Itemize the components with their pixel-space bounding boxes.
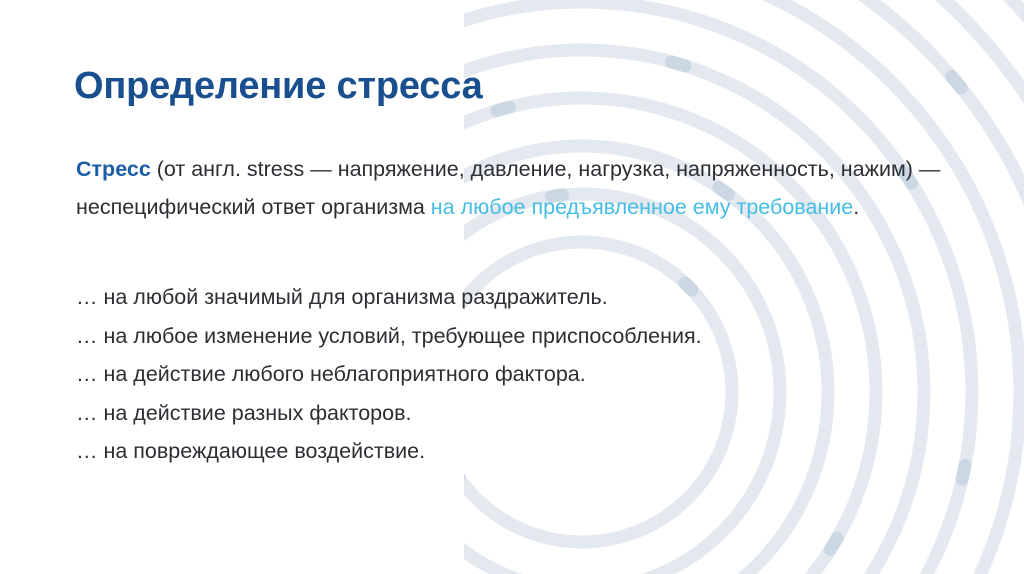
definition-paragraph: Стресс (от англ. stress — напряжение, да… xyxy=(76,150,976,226)
list-item: … на любой значимый для организма раздра… xyxy=(76,278,976,317)
definition-term: Стресс xyxy=(76,157,151,181)
page-title: Определение стресса xyxy=(74,65,483,108)
list-item: … на любое изменение условий, требующее … xyxy=(76,317,976,356)
slide: Определение стресса Стресс (от англ. str… xyxy=(0,0,1024,574)
list-item: … на действие любого неблагоприятного фа… xyxy=(76,355,976,394)
definition-text-trailing: . xyxy=(853,195,859,219)
bullet-list: … на любой значимый для организма раздра… xyxy=(76,278,976,471)
definition-accent-phrase: на любое предъявленное ему требование xyxy=(431,195,853,219)
list-item: … на действие разных факторов. xyxy=(76,394,976,433)
list-item: … на повреждающее воздействие. xyxy=(76,432,976,471)
